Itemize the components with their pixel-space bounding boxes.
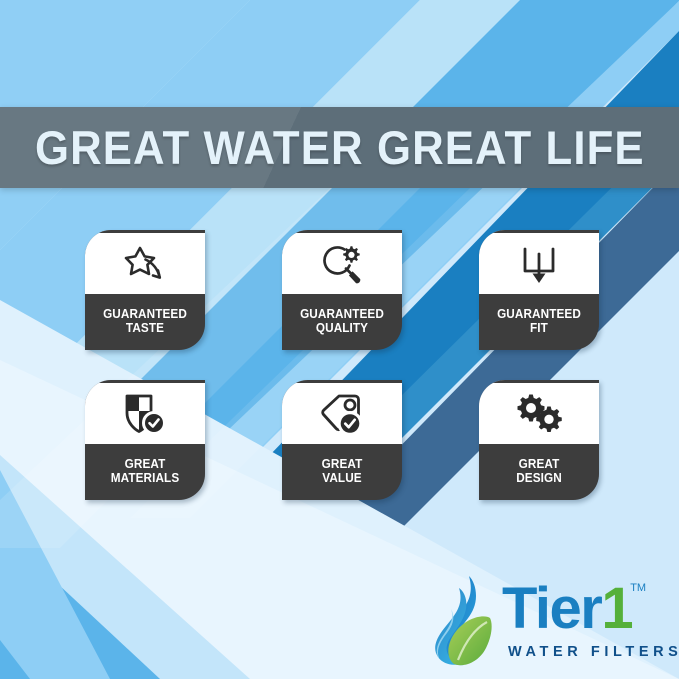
badge-label-line1: GUARANTEED bbox=[103, 307, 187, 321]
headline-banner: GREAT WATER GREAT LIFE bbox=[0, 107, 679, 188]
badge-label-line2: MATERIALS bbox=[111, 471, 180, 485]
badge-great-materials: GREAT MATERIALS bbox=[85, 380, 205, 500]
badge-label: GREAT DESIGN bbox=[483, 444, 596, 500]
badge-label: GUARANTEED TASTE bbox=[89, 294, 202, 350]
badge-label-line2: TASTE bbox=[126, 321, 164, 335]
badge-label-line2: FIT bbox=[530, 321, 548, 335]
water-drop-leaf-icon bbox=[424, 572, 504, 669]
badge-great-value: GREAT VALUE bbox=[282, 380, 402, 500]
feature-badge-grid: GUARANTEED TASTE bbox=[85, 230, 600, 500]
logo-brand-text: Tier bbox=[502, 576, 601, 641]
badge-label-line2: QUALITY bbox=[316, 321, 368, 335]
two-gears-icon bbox=[515, 392, 563, 436]
badge-icon-panel bbox=[85, 380, 205, 444]
badge-label: GREAT MATERIALS bbox=[89, 444, 202, 500]
price-tag-check-icon bbox=[318, 392, 366, 436]
badge-label: GREAT VALUE bbox=[286, 444, 399, 500]
badge-icon-panel bbox=[85, 230, 205, 294]
badge-icon-panel bbox=[282, 230, 402, 294]
logo-numeral: 1 bbox=[601, 576, 632, 641]
marketing-poster: GREAT WATER GREAT LIFE GUARANTEED bbox=[0, 0, 679, 679]
shooting-star-icon bbox=[123, 244, 167, 284]
checkered-shield-check-icon bbox=[122, 392, 168, 436]
badge-guaranteed-quality: GUARANTEED QUALITY bbox=[282, 230, 402, 350]
badge-label-line2: DESIGN bbox=[516, 471, 562, 485]
badge-label-line1: GREAT bbox=[322, 457, 363, 471]
page-title: GREAT WATER GREAT LIFE bbox=[35, 124, 645, 171]
badge-guaranteed-fit: GUARANTEED FIT bbox=[479, 230, 599, 350]
trademark-symbol: TM bbox=[630, 582, 646, 594]
magnifier-gear-icon bbox=[320, 243, 364, 285]
badge-label-line1: GREAT bbox=[125, 457, 166, 471]
badge-label-line1: GREAT bbox=[519, 457, 560, 471]
badge-guaranteed-taste: GUARANTEED TASTE bbox=[85, 230, 205, 350]
badge-icon-panel bbox=[282, 380, 402, 444]
badge-label-line1: GUARANTEED bbox=[497, 307, 581, 321]
badge-great-design: GREAT DESIGN bbox=[479, 380, 599, 500]
logo-tagline: WATER FILTERS bbox=[508, 644, 679, 660]
logo-wordmark: Tier1 TM bbox=[502, 580, 632, 642]
tier1-logo: Tier1 TM WATER FILTERS bbox=[424, 572, 674, 672]
badge-icon-panel bbox=[479, 230, 599, 294]
download-fit-arrow-icon bbox=[519, 243, 559, 285]
badge-label-line2: VALUE bbox=[322, 471, 361, 485]
badge-label: GUARANTEED QUALITY bbox=[286, 294, 399, 350]
badge-label: GUARANTEED FIT bbox=[483, 294, 596, 350]
badge-icon-panel bbox=[479, 380, 599, 444]
badge-label-line1: GUARANTEED bbox=[300, 307, 384, 321]
